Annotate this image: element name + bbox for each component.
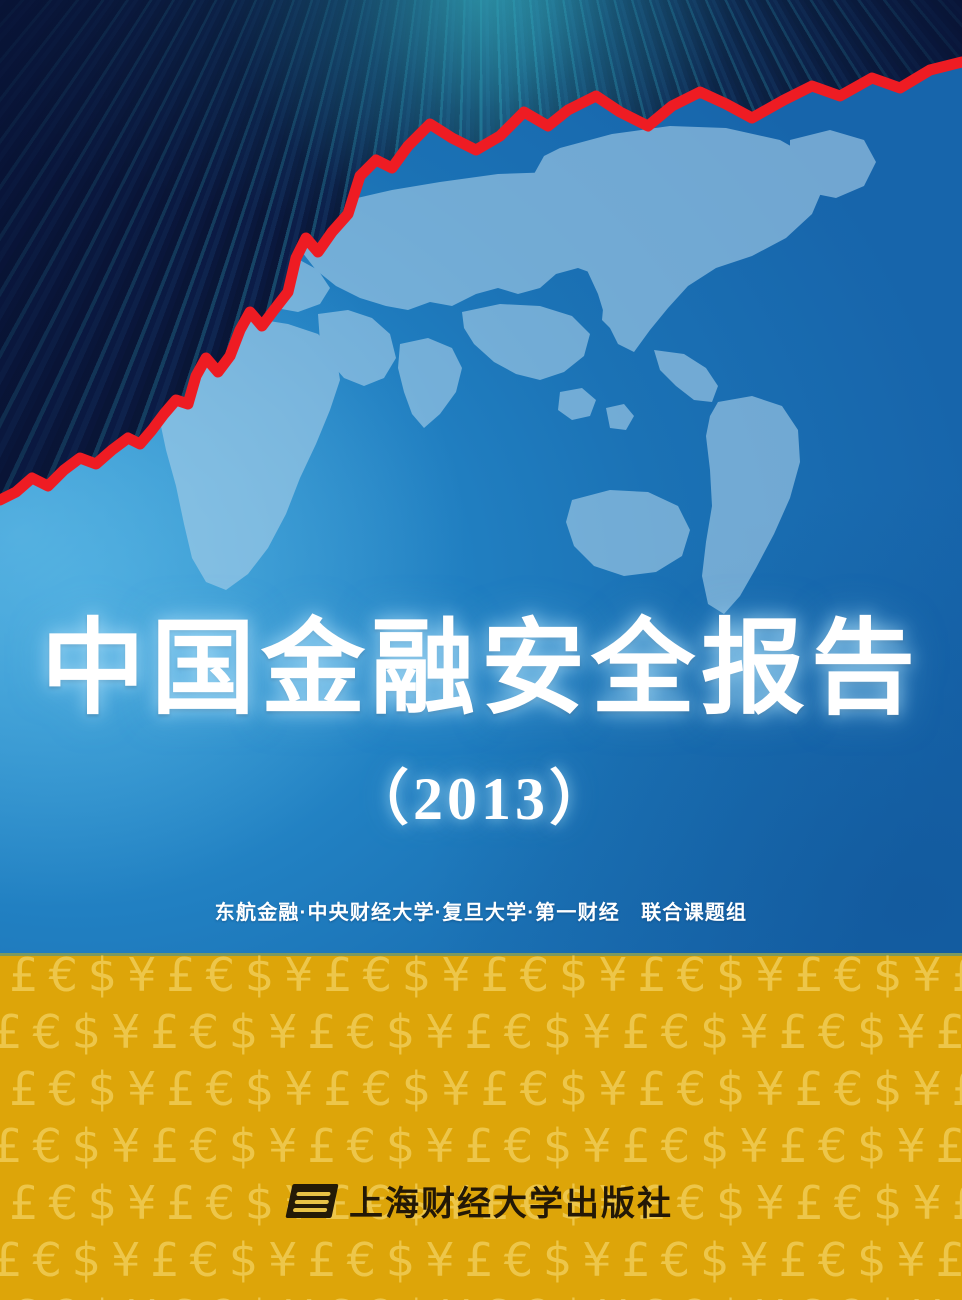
currency-rows: ¥£€$¥£€$¥£€$¥£€$¥£€$¥£€$¥£€$¥£€$¥£€$¥£€$… bbox=[0, 953, 962, 1300]
publisher-block: 上海财经大学出版社 bbox=[0, 1176, 962, 1225]
currency-pattern-band: ¥£€$¥£€$¥£€$¥£€$¥£€$¥£€$¥£€$¥£€$¥£€$¥£€$… bbox=[0, 953, 962, 1300]
publisher-name: 上海财经大学出版社 bbox=[349, 1176, 673, 1225]
book-cover: 中国金融安全报告 （2013） 东航金融·中央财经大学·复旦大学·第一财经 联合… bbox=[0, 0, 962, 1300]
currency-row: ¥£€$¥£€$¥£€$¥£€$¥£€$¥£€$¥£€$¥£€$¥£€$¥£€$… bbox=[0, 1289, 962, 1300]
currency-row: ¥£€$¥£€$¥£€$¥£€$¥£€$¥£€$¥£€$¥£€$¥£€$¥£€$… bbox=[0, 1004, 962, 1061]
currency-row: ¥£€$¥£€$¥£€$¥£€$¥£€$¥£€$¥£€$¥£€$¥£€$¥£€$… bbox=[0, 953, 962, 1004]
title-block: 中国金融安全报告 （2013） bbox=[0, 612, 962, 837]
page-title: 中国金融安全报告 bbox=[0, 612, 962, 728]
currency-row: ¥£€$¥£€$¥£€$¥£€$¥£€$¥£€$¥£€$¥£€$¥£€$¥£€$… bbox=[0, 1061, 962, 1118]
currency-row: ¥£€$¥£€$¥£€$¥£€$¥£€$¥£€$¥£€$¥£€$¥£€$¥£€$… bbox=[0, 1232, 962, 1289]
year-subtitle: （2013） bbox=[0, 750, 962, 837]
authors-line: 东航金融·中央财经大学·复旦大学·第一财经 联合课题组 bbox=[0, 896, 962, 925]
book-ledger-logo-icon bbox=[285, 1184, 338, 1218]
currency-row: ¥£€$¥£€$¥£€$¥£€$¥£€$¥£€$¥£€$¥£€$¥£€$¥£€$… bbox=[0, 1118, 962, 1175]
